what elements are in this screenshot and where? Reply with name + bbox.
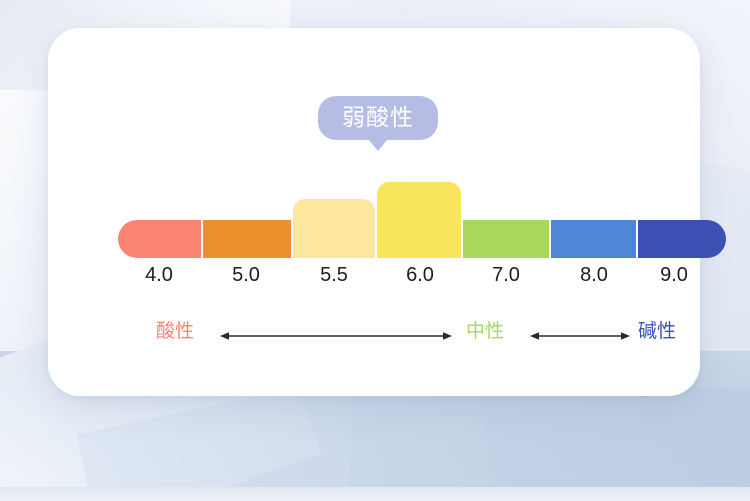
ph-segment-8-0[interactable] <box>551 220 636 258</box>
ph-legend: 酸性 中性 碱性 <box>118 320 726 350</box>
ph-tooltip-pointer-icon <box>369 140 387 151</box>
ph-tick-4-0: 4.0 <box>124 264 194 287</box>
ph-tick-8-0: 8.0 <box>559 264 629 287</box>
ph-tooltip: 弱酸性 <box>318 96 438 140</box>
ph-segment-6-0[interactable] <box>377 182 461 258</box>
ph-tick-5-0: 5.0 <box>211 264 281 287</box>
ph-segment-4-0[interactable] <box>118 220 201 258</box>
ph-legend-acidic: 酸性 <box>156 320 194 344</box>
ph-scale-bar <box>118 173 726 258</box>
ph-tick-6-0: 6.0 <box>385 264 455 287</box>
ph-tick-9-0: 9.0 <box>639 264 709 287</box>
ph-legend-arrow-acidic-to-neutral-icon <box>220 331 452 341</box>
ph-tooltip-label: 弱酸性 <box>318 96 438 140</box>
page-background: 弱酸性 4.0 5.0 5.5 6.0 7.0 8.0 9.0 酸性 <box>0 0 750 501</box>
background-bottom-edge <box>0 487 750 501</box>
ph-segment-5-0[interactable] <box>203 220 291 258</box>
ph-segment-5-5[interactable] <box>293 199 375 258</box>
ph-legend-neutral: 中性 <box>466 320 504 344</box>
ph-legend-alkaline: 碱性 <box>638 320 676 344</box>
ph-legend-arrow-neutral-to-alkaline-icon <box>530 331 630 341</box>
ph-segment-7-0[interactable] <box>463 220 549 258</box>
ph-segment-9-0[interactable] <box>638 220 726 258</box>
ph-scale-card: 弱酸性 4.0 5.0 5.5 6.0 7.0 8.0 9.0 酸性 <box>48 28 700 396</box>
ph-tick-7-0: 7.0 <box>471 264 541 287</box>
ph-tick-5-5: 5.5 <box>299 264 369 287</box>
ph-tick-labels: 4.0 5.0 5.5 6.0 7.0 8.0 9.0 <box>118 264 726 290</box>
